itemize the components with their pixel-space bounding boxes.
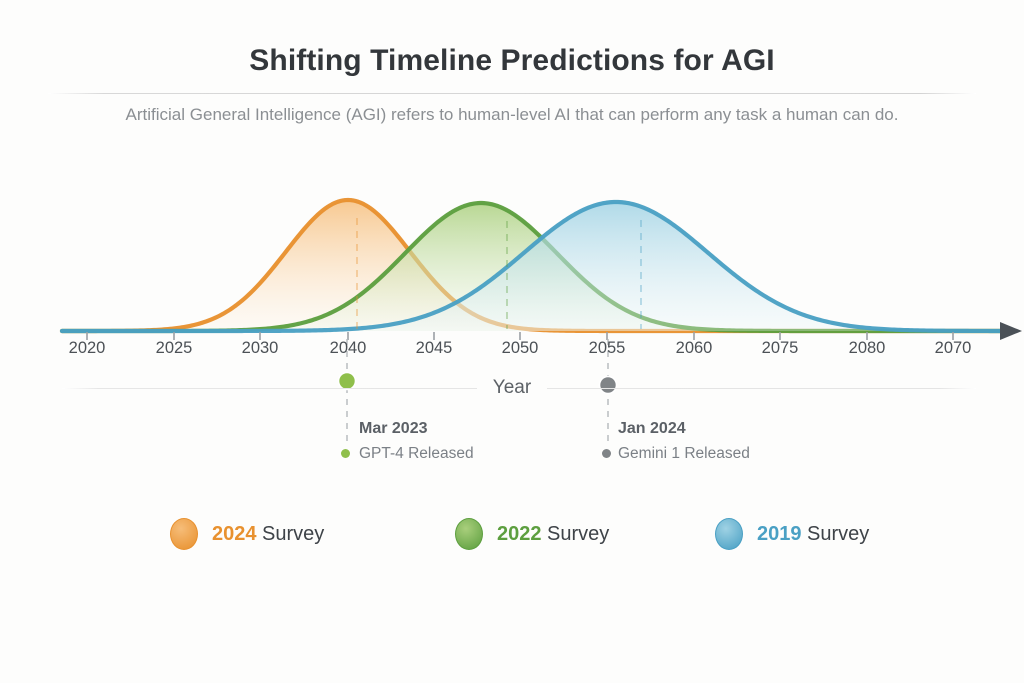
x-tick-label-2080: 2080 bbox=[822, 339, 912, 358]
legend-item-2022[interactable]: 2022 Survey bbox=[455, 518, 609, 550]
chart-legend: 2024 Survey2022 Survey2019 Survey bbox=[0, 518, 1024, 562]
curve-area-2019 bbox=[62, 202, 1010, 331]
annotation-date: Jan 2024 bbox=[618, 420, 686, 438]
chart-card: Shifting Timeline Predictions for AGI Ar… bbox=[0, 0, 1024, 683]
legend-year: 2022 bbox=[497, 523, 542, 545]
legend-label: 2019 Survey bbox=[757, 523, 869, 546]
annotation-swatch-icon bbox=[341, 449, 350, 458]
x-axis-title: Year bbox=[0, 377, 1024, 399]
x-tick-label-2075: 2075 bbox=[735, 339, 825, 358]
x-tick-label-2025: 2025 bbox=[129, 339, 219, 358]
x-axis-title-text: Year bbox=[477, 377, 547, 398]
legend-suffix: Survey bbox=[802, 523, 870, 545]
legend-label: 2024 Survey bbox=[212, 523, 324, 546]
legend-dot-icon bbox=[715, 518, 743, 550]
x-axis-arrow-icon bbox=[1000, 322, 1022, 340]
legend-suffix: Survey bbox=[542, 523, 610, 545]
x-tick-label-2040: 2040 bbox=[303, 339, 393, 358]
legend-suffix: Survey bbox=[257, 523, 325, 545]
annotation-label: Gemini 1 Released bbox=[618, 445, 750, 463]
x-tick-label-2060: 2060 bbox=[649, 339, 739, 358]
legend-dot-icon bbox=[170, 518, 198, 550]
x-tick-label-2045: 2045 bbox=[389, 339, 479, 358]
legend-year: 2019 bbox=[757, 523, 802, 545]
legend-year: 2024 bbox=[212, 523, 257, 545]
x-tick-label-2030: 2030 bbox=[215, 339, 305, 358]
x-tick-label-2055: 2055 bbox=[562, 339, 652, 358]
legend-dot-icon bbox=[455, 518, 483, 550]
x-tick-label-2050: 2050 bbox=[475, 339, 565, 358]
x-tick-label-2020: 2020 bbox=[42, 339, 132, 358]
legend-label: 2022 Survey bbox=[497, 523, 609, 546]
annotation-label: GPT-4 Released bbox=[359, 445, 474, 463]
annotation-swatch-icon bbox=[602, 449, 611, 458]
x-tick-label-2070: 2070 bbox=[908, 339, 998, 358]
legend-item-2024[interactable]: 2024 Survey bbox=[170, 518, 324, 550]
annotation-date: Mar 2023 bbox=[359, 420, 428, 438]
legend-item-2019[interactable]: 2019 Survey bbox=[715, 518, 869, 550]
curve-layer bbox=[62, 200, 1010, 331]
